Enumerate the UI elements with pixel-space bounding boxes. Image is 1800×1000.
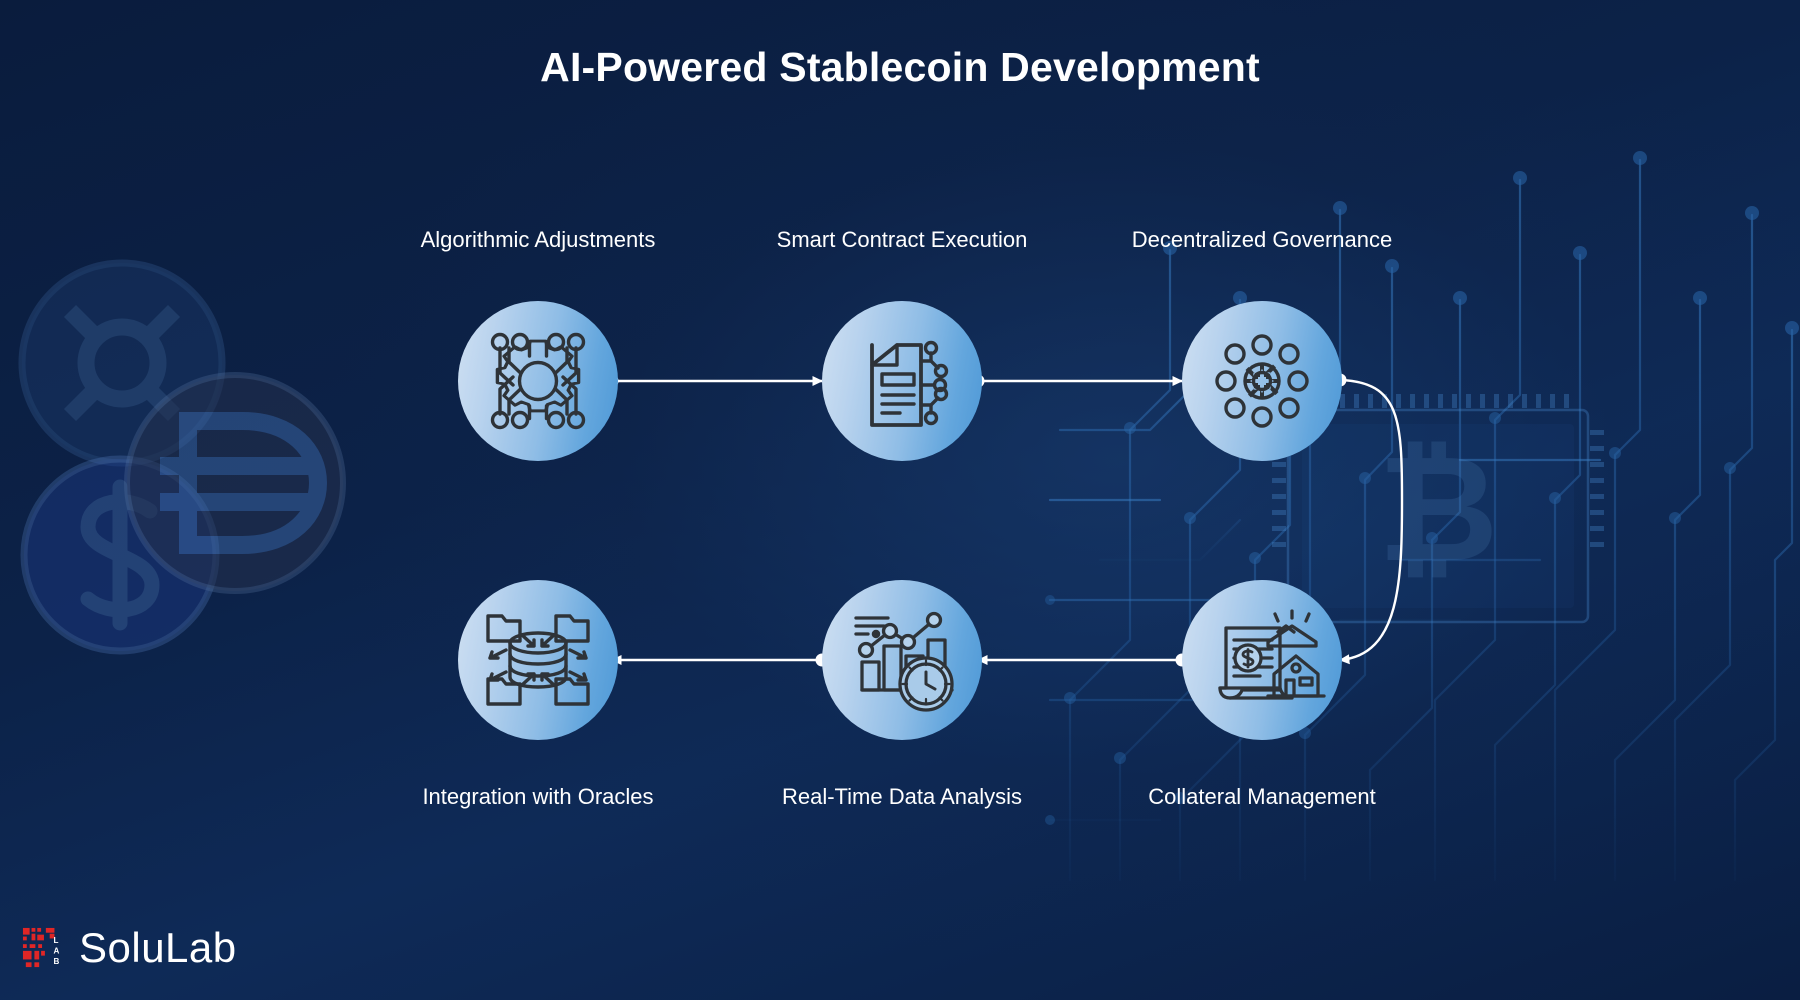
lab-letter-a: A <box>54 947 60 956</box>
assets-document-icon <box>1182 580 1342 740</box>
lab-letter-b: B <box>54 957 60 966</box>
brand-logo[interactable]: L A B SoluLab <box>22 924 237 972</box>
node-collateral-management[interactable]: Collateral Management <box>1182 580 1342 740</box>
network-hub-icon <box>1182 301 1342 461</box>
node-algorithmic-adjustments[interactable]: Algorithmic Adjustments <box>458 301 618 461</box>
node-real-time-data-analysis[interactable]: Real-Time Data Analysis <box>822 580 982 740</box>
node-label: Integration with Oracles <box>328 784 748 810</box>
solulab-mark-icon: L A B <box>22 926 64 970</box>
node-decentralized-governance[interactable]: Decentralized Governance <box>1182 301 1342 461</box>
node-label: Decentralized Governance <box>1052 227 1472 253</box>
node-label: Algorithmic Adjustments <box>328 227 748 253</box>
flow-diagram: Algorithmic Adjustments <box>0 0 1800 1000</box>
brand-name: SoluLab <box>79 924 237 972</box>
node-label: Collateral Management <box>1052 784 1472 810</box>
node-label: Smart Contract Execution <box>692 227 1112 253</box>
chart-clock-icon <box>822 580 982 740</box>
infographic-canvas: ₿ <box>0 0 1800 1000</box>
node-integration-with-oracles[interactable]: Integration with Oracles <box>458 580 618 740</box>
node-smart-contract-execution[interactable]: Smart Contract Execution <box>822 301 982 461</box>
gear-circuit-icon <box>458 301 618 461</box>
database-folders-icon <box>458 580 618 740</box>
document-circuit-icon <box>822 301 982 461</box>
node-label: Real-Time Data Analysis <box>692 784 1112 810</box>
lab-letter-l: L <box>54 936 59 945</box>
